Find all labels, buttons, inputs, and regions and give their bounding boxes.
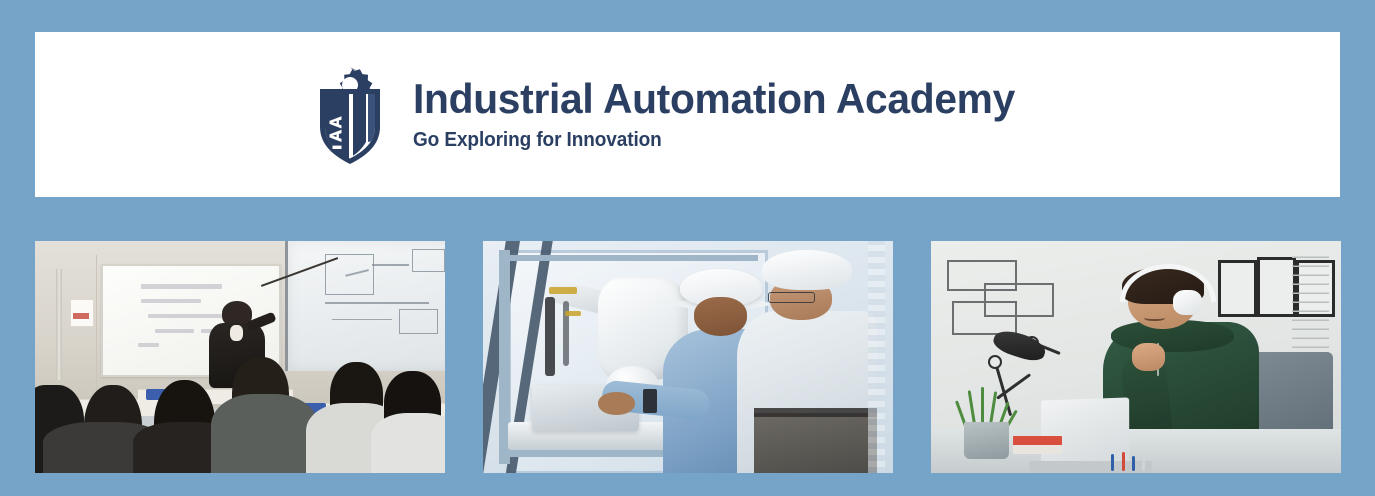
photo-gallery	[35, 241, 1340, 473]
brand-tagline: Go Exploring for Innovation	[413, 129, 1003, 151]
header-card: Industrial Automation Academy Go Explori…	[35, 32, 1340, 197]
robot-lab-photo[interactable]	[483, 241, 893, 473]
classroom-training-photo[interactable]	[35, 241, 445, 473]
online-learning-photo[interactable]	[931, 241, 1341, 473]
brand-lockup[interactable]: Industrial Automation Academy Go Explori…	[313, 65, 1034, 165]
robot-lab-photo-art	[483, 241, 893, 473]
page-title: Industrial Automation Academy	[413, 78, 1015, 121]
brand-text-block: Industrial Automation Academy Go Explori…	[413, 78, 1034, 152]
page-root: Industrial Automation Academy Go Explori…	[0, 0, 1375, 496]
classroom-training-photo-art	[35, 241, 445, 473]
online-learning-photo-art	[931, 241, 1341, 473]
shield-gear-emblem	[313, 65, 387, 165]
